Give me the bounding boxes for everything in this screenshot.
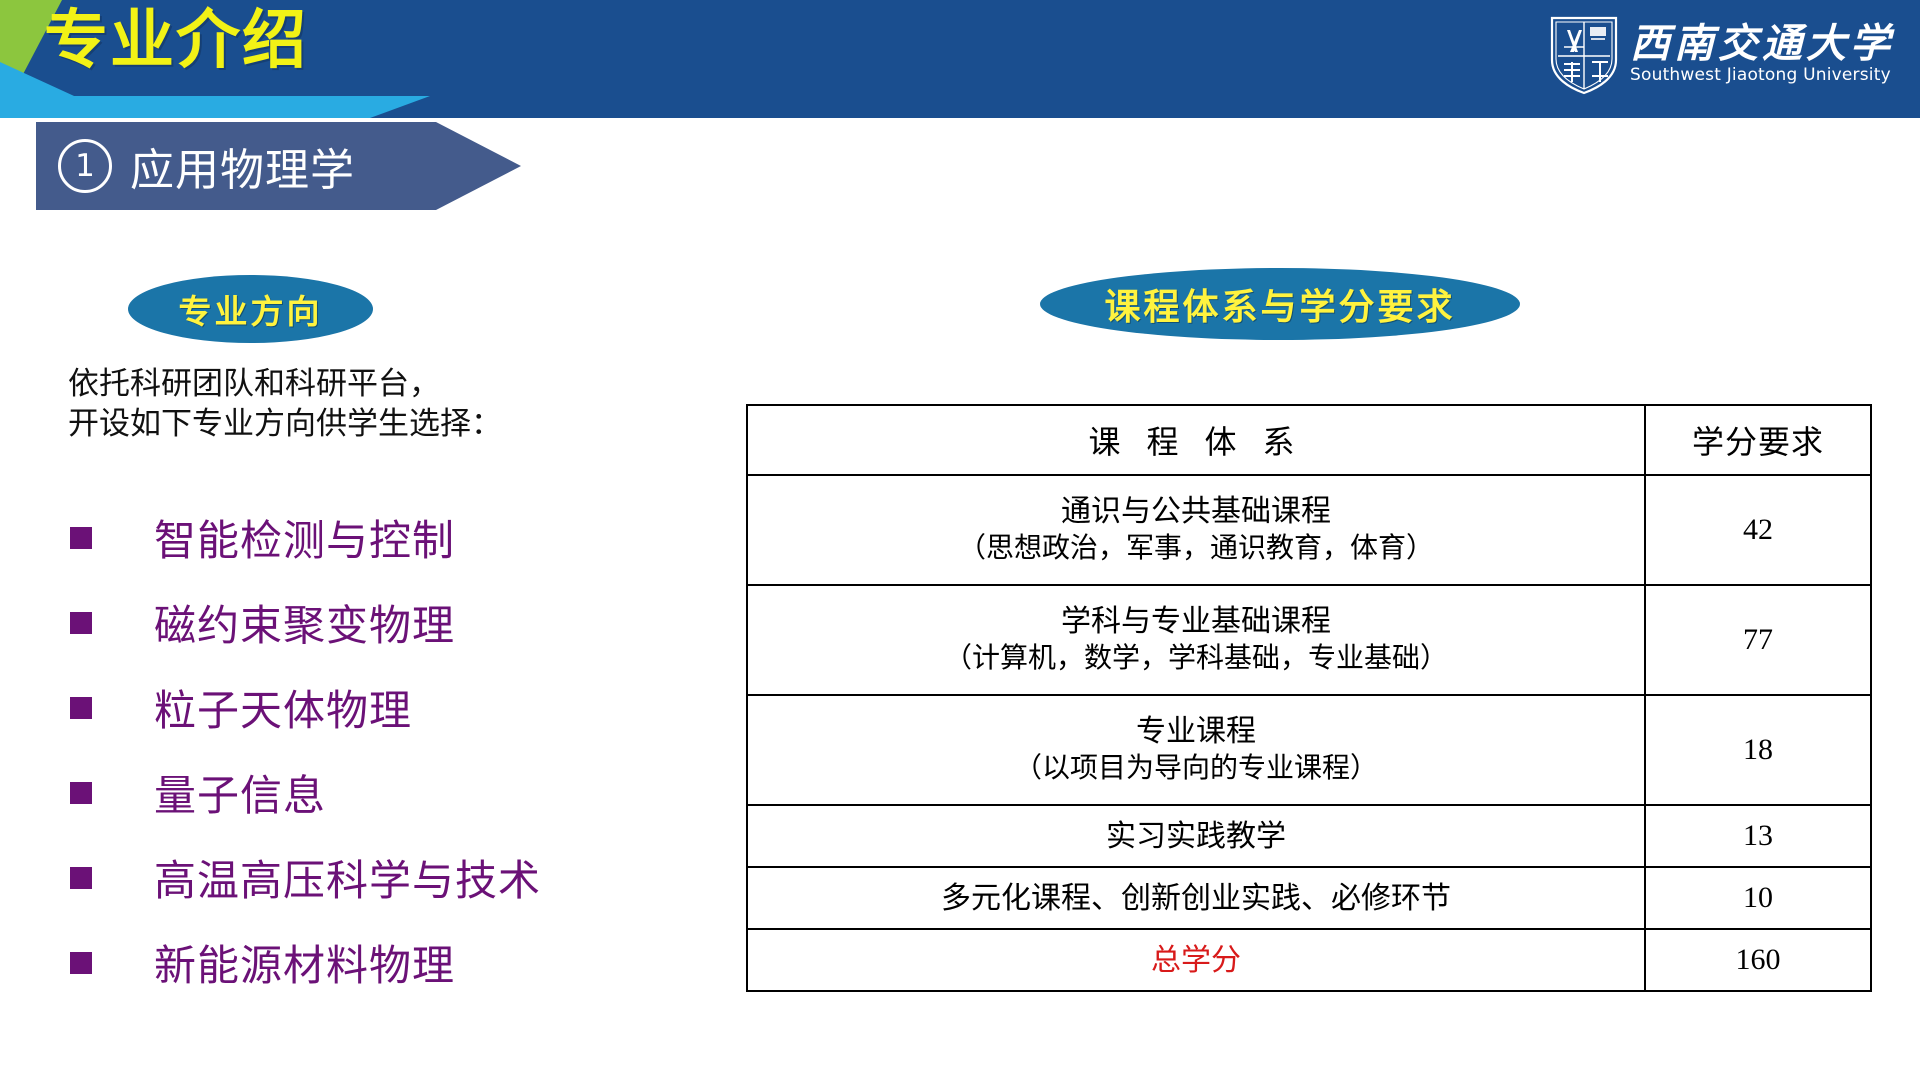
- table-row: 专业课程 （以项目为导向的专业课程） 18: [747, 695, 1871, 805]
- cell-credit-value: 10: [1645, 867, 1871, 929]
- list-item: 磁约束聚变物理: [68, 580, 708, 665]
- list-item: 高温高压科学与技术: [68, 835, 708, 920]
- table-row: 学科与专业基础课程 （计算机，数学，学科基础，专业基础） 77: [747, 585, 1871, 695]
- logo-text-block: 西南交通大学 Southwest Jiaotong University: [1630, 24, 1894, 84]
- table-row: 实习实践教学 13: [747, 805, 1871, 867]
- cell-course-system: 实习实践教学: [747, 805, 1645, 867]
- square-bullet-icon: [70, 612, 92, 634]
- cell-main-text: 学科与专业基础课程: [752, 602, 1640, 641]
- list-item-label: 智能检测与控制: [154, 507, 455, 568]
- square-bullet-icon: [70, 782, 92, 804]
- page-title: 专业介绍: [44, 8, 308, 75]
- cell-main-text: 多元化课程、创新创业实践、必修环节: [752, 879, 1640, 918]
- cyan-stripe-accent: [0, 96, 430, 118]
- list-item-label: 新能源材料物理: [154, 932, 455, 993]
- list-item-label: 粒子天体物理: [154, 677, 412, 738]
- cell-sub-text: （思想政治，军事，通识教育，体育）: [752, 531, 1640, 567]
- cell-course-system: 专业课程 （以项目为导向的专业课程）: [747, 695, 1645, 805]
- cell-course-system: 多元化课程、创新创业实践、必修环节: [747, 867, 1645, 929]
- section-title: 应用物理学: [130, 134, 355, 198]
- left-pill-title: 专业方向: [128, 275, 373, 343]
- square-bullet-icon: [70, 527, 92, 549]
- table-row-total: 总学分 160: [747, 929, 1871, 991]
- column-header-credit-requirement: 学分要求: [1645, 405, 1871, 475]
- intro-line-1: 依托科研团队和科研平台，: [68, 364, 502, 404]
- cell-main-text: 专业课程: [752, 712, 1640, 751]
- table-row: 通识与公共基础课程 （思想政治，军事，通识教育，体育） 42: [747, 475, 1871, 585]
- cell-total-value: 160: [1645, 929, 1871, 991]
- cell-main-text: 通识与公共基础课程: [752, 492, 1640, 531]
- list-item-label: 高温高压科学与技术: [154, 847, 541, 908]
- total-label-text: 总学分: [752, 941, 1640, 980]
- section-banner: 1 应用物理学: [36, 122, 521, 210]
- list-item: 量子信息: [68, 750, 708, 835]
- university-logo: 西南交通大学 Southwest Jiaotong University: [1548, 12, 1894, 96]
- table-row: 多元化课程、创新创业实践、必修环节 10: [747, 867, 1871, 929]
- column-header-course-system: 课 程 体 系: [747, 405, 1645, 475]
- list-item: 粒子天体物理: [68, 665, 708, 750]
- list-item: 新能源材料物理: [68, 920, 708, 1005]
- cell-sub-text: （计算机，数学，学科基础，专业基础）: [752, 641, 1640, 677]
- cell-course-system: 学科与专业基础课程 （计算机，数学，学科基础，专业基础）: [747, 585, 1645, 695]
- intro-text: 依托科研团队和科研平台， 开设如下专业方向供学生选择：: [68, 364, 502, 445]
- table-header-row: 课 程 体 系 学分要求: [747, 405, 1871, 475]
- university-crest-icon: [1548, 12, 1620, 96]
- right-pill-title: 课程体系与学分要求: [1040, 268, 1520, 340]
- cell-credit-value: 42: [1645, 475, 1871, 585]
- square-bullet-icon: [70, 952, 92, 974]
- intro-line-2: 开设如下专业方向供学生选择：: [68, 404, 502, 444]
- cell-credit-value: 77: [1645, 585, 1871, 695]
- list-item-label: 磁约束聚变物理: [154, 592, 455, 653]
- cell-total-label: 总学分: [747, 929, 1645, 991]
- logo-name-en: Southwest Jiaotong University: [1630, 67, 1891, 84]
- cell-sub-text: （以项目为导向的专业课程）: [752, 751, 1640, 787]
- cell-credit-value: 18: [1645, 695, 1871, 805]
- square-bullet-icon: [70, 697, 92, 719]
- list-item-label: 量子信息: [154, 762, 326, 823]
- direction-list: 智能检测与控制 磁约束聚变物理 粒子天体物理 量子信息 高温高压科学与技术 新能…: [68, 495, 708, 1005]
- section-number-badge: 1: [58, 139, 112, 193]
- curriculum-credit-table: 课 程 体 系 学分要求 通识与公共基础课程 （思想政治，军事，通识教育，体育）…: [746, 404, 1872, 992]
- cell-main-text: 实习实践教学: [752, 817, 1640, 856]
- cell-course-system: 通识与公共基础课程 （思想政治，军事，通识教育，体育）: [747, 475, 1645, 585]
- square-bullet-icon: [70, 867, 92, 889]
- list-item: 智能检测与控制: [68, 495, 708, 580]
- cell-credit-value: 13: [1645, 805, 1871, 867]
- logo-name-cn: 西南交通大学: [1630, 24, 1894, 64]
